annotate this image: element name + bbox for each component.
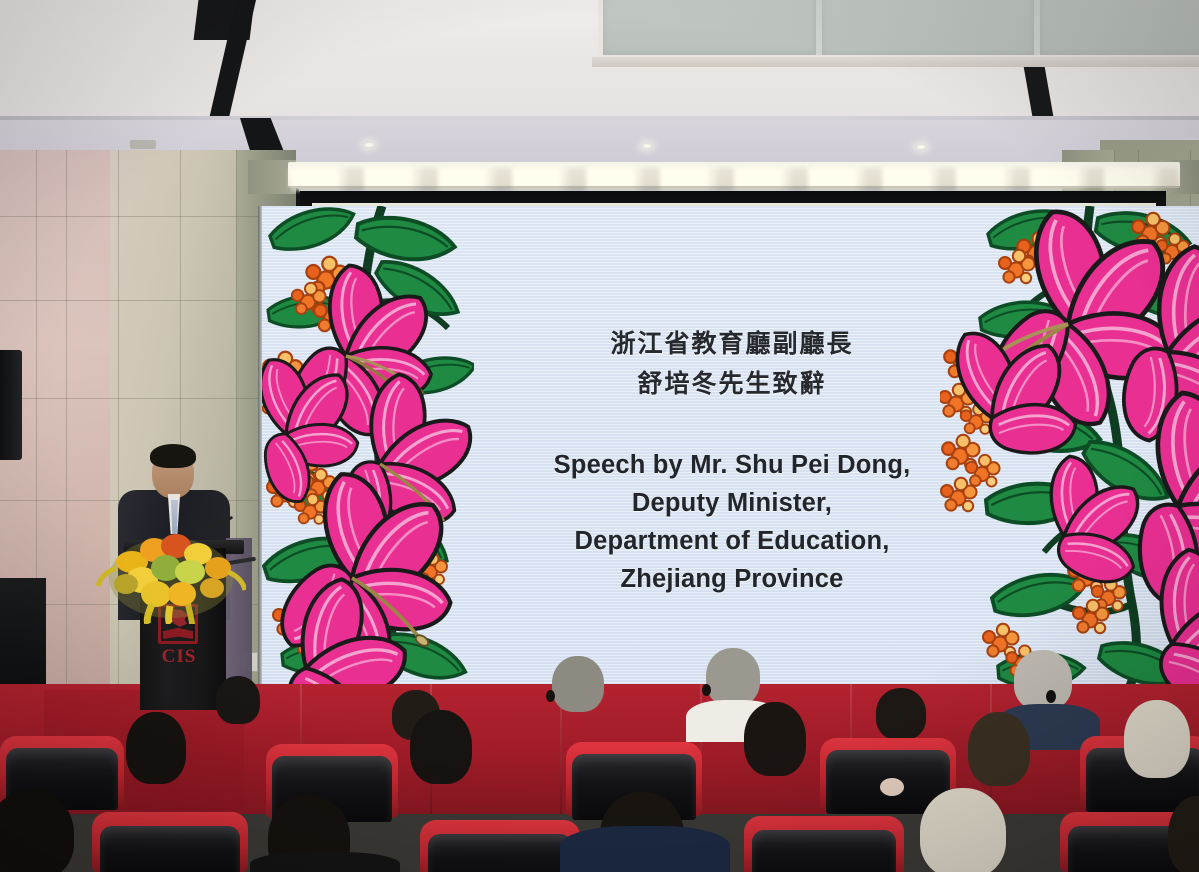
audience-head bbox=[968, 712, 1030, 786]
ceiling-downlight bbox=[130, 140, 156, 149]
ceiling-vent-grille bbox=[598, 0, 1199, 60]
floral-left-svg bbox=[262, 206, 474, 686]
ceiling-downlight bbox=[363, 142, 375, 148]
wall-tile-line bbox=[66, 150, 67, 710]
wall-tile-line bbox=[0, 300, 262, 301]
audience-shoulders bbox=[250, 852, 400, 872]
chair-back bbox=[428, 834, 572, 872]
soffit-edge bbox=[0, 116, 1199, 120]
slide-floral-left bbox=[262, 206, 474, 686]
audience-head bbox=[876, 688, 926, 740]
audience-head bbox=[1014, 650, 1072, 710]
chair-back bbox=[100, 826, 240, 872]
ceiling-downlight bbox=[915, 144, 927, 150]
earpiece-icon bbox=[546, 690, 555, 702]
slide-floral-right bbox=[940, 206, 1199, 686]
hair-clip-icon bbox=[880, 778, 904, 796]
ceiling-vent-lip bbox=[592, 57, 1199, 67]
audience-head bbox=[410, 710, 472, 784]
photo-scene: 浙江省教育廳副廳長 舒培冬先生致辭 Speech by Mr. Shu Pei … bbox=[0, 0, 1199, 872]
wall-tile-line bbox=[118, 150, 119, 710]
speaker-hair bbox=[150, 444, 196, 468]
ceiling-downlight bbox=[641, 143, 653, 149]
vent-cell bbox=[603, 0, 816, 55]
audience-head bbox=[1124, 700, 1190, 778]
bouquet-svg bbox=[96, 516, 246, 624]
vent-cell bbox=[1040, 0, 1199, 55]
floral-right-svg bbox=[940, 206, 1199, 686]
wall-speaker-box bbox=[0, 350, 22, 460]
audience-head bbox=[552, 656, 604, 712]
audience-head bbox=[706, 648, 760, 706]
audience-head bbox=[126, 712, 186, 784]
audience-head bbox=[216, 676, 260, 724]
wall-tile-line bbox=[0, 398, 262, 399]
audience-head bbox=[920, 788, 1006, 872]
audience-head bbox=[744, 702, 806, 776]
vent-cell bbox=[822, 0, 1035, 55]
podium-logo-text: CIS bbox=[150, 646, 208, 668]
chair-back bbox=[752, 830, 896, 872]
wall-tile-line bbox=[0, 216, 262, 217]
earpiece-icon bbox=[1046, 690, 1056, 703]
podium-bouquet bbox=[96, 516, 246, 624]
audience-shoulders bbox=[560, 826, 730, 872]
earpiece-icon bbox=[702, 684, 711, 696]
